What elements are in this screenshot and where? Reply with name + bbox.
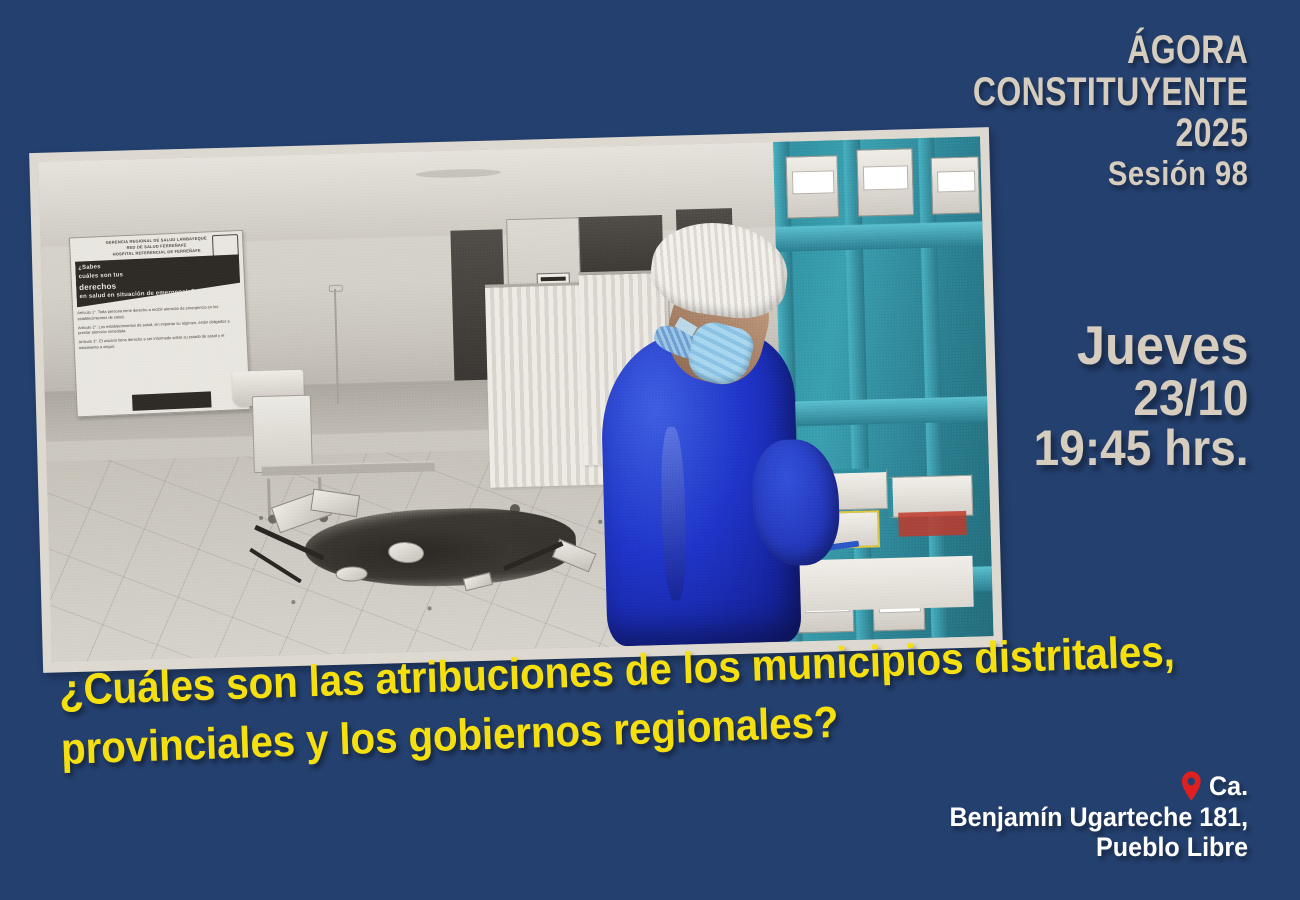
- debris-bar: [249, 547, 302, 583]
- debris-speck: [291, 600, 295, 604]
- event-brand-title: ÁGORA CONSTITUYENTE 2025 Sesión 98: [904, 30, 1248, 192]
- supply-box-label: [792, 171, 834, 195]
- debris-speck: [259, 516, 263, 520]
- address-line-2: Benjamín Ugarteche 181,: [949, 802, 1248, 832]
- map-pin-icon: [1181, 771, 1201, 801]
- event-photo-frame: GERENCIA REGIONAL DE SALUD LAMBAYEQUE RE…: [29, 127, 1003, 673]
- brand-line-session: Sesión 98: [952, 157, 1248, 192]
- hospital-scene: GERENCIA REGIONAL DE SALUD LAMBAYEQUE RE…: [38, 136, 993, 661]
- debris-speck: [427, 606, 431, 610]
- hair-net-cap: [646, 215, 792, 324]
- address-line-1-row: Ca.: [949, 771, 1248, 801]
- red-label-box: [898, 511, 966, 537]
- event-photo: GERENCIA REGIONAL DE SALUD LAMBAYEQUE RE…: [38, 136, 993, 661]
- address-line-3: Pueblo Libre: [949, 832, 1248, 862]
- patient-rights-poster: GERENCIA REGIONAL DE SALUD LAMBAYEQUE RE…: [69, 230, 251, 418]
- brand-line-year: 2025: [973, 113, 1248, 155]
- brand-line-agora: ÁGORA: [973, 30, 1248, 72]
- event-address: Ca. Benjamín Ugarteche 181, Pueblo Libre: [949, 771, 1248, 862]
- event-date: 23/10: [1033, 373, 1248, 423]
- brand-line-constituyente: CONSTITUYENTE: [973, 72, 1248, 114]
- poster-band: ¿Sabes cuáles son tus derechos en salud …: [75, 254, 241, 307]
- poster-footer-band: [132, 391, 212, 411]
- event-time: 19:45 hrs.: [1033, 423, 1248, 473]
- supply-box: [786, 155, 839, 218]
- debris-pile: [236, 481, 616, 616]
- address-line-1: Ca.: [1209, 771, 1248, 801]
- bed-headboard: [252, 395, 313, 474]
- supply-box-label: [863, 165, 909, 190]
- poster-canvas: GERENCIA REGIONAL DE SALUD LAMBAYEQUE RE…: [0, 0, 1300, 900]
- event-datetime: Jueves 23/10 19:45 hrs.: [1015, 318, 1248, 473]
- health-worker: [596, 221, 833, 647]
- debris-speck: [598, 519, 602, 523]
- event-day: Jueves: [1033, 318, 1248, 373]
- poster-body: Artículo 1°. Toda persona tiene derecho …: [77, 303, 243, 351]
